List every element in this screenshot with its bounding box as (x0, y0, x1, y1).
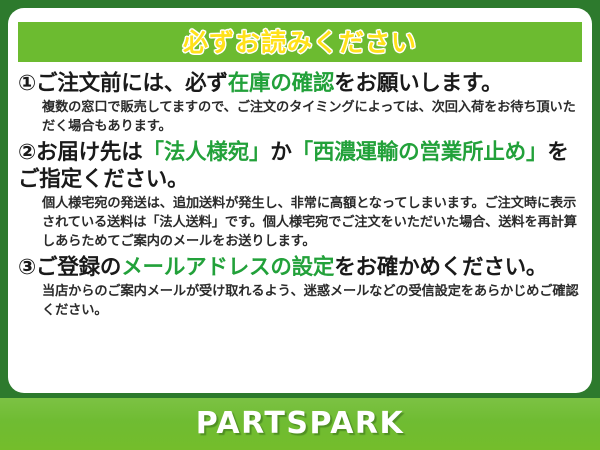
brand-logo: PARTSPARK (196, 409, 405, 439)
notice-item-2: ②お届け先は「法人様宛」か「西濃運輸の営業所止め」をご指定ください。 個人様宅宛… (18, 139, 582, 252)
notice-item-1-description: 複数の窓口で販売してますので、ご注文のタイミングによっては、次回入荷をお待ち頂い… (18, 97, 582, 136)
notice-banner: 必ずお読みください ①ご注文前には、必ず在庫の確認をお願いします。 複数の窓口で… (0, 0, 600, 450)
notice-item-2-head-pre: お届け先は (36, 140, 143, 165)
notice-item-3-highlight: メールアドレスの設定 (121, 255, 334, 280)
header-band: 必ずお読みください (18, 22, 582, 62)
notice-item-1-highlight: 在庫の確認 (228, 71, 335, 96)
notice-item-2-head-mid: か (270, 140, 291, 165)
notice-item-1-marker: ① (18, 71, 36, 96)
notice-item-3-description: 当店からのご案内メールが受け取れるよう、迷惑メールなどの受信設定をあらかじめご確… (18, 281, 582, 320)
notice-item-3-head-post: をお確かめください。 (334, 255, 547, 280)
notice-item-2-description: 個人様宅宛の発送は、追加送料が発生し、非常に高額となってしまいます。ご注文時に表… (18, 193, 582, 251)
notice-item-1-heading: ①ご注文前には、必ず在庫の確認をお願いします。 (18, 70, 582, 97)
notice-list: ①ご注文前には、必ず在庫の確認をお願いします。 複数の窓口で販売してますので、ご… (8, 70, 592, 322)
notice-item-1: ①ご注文前には、必ず在庫の確認をお願いします。 複数の窓口で販売してますので、ご… (18, 70, 582, 137)
notice-item-3: ③ご登録のメールアドレスの設定をお確かめください。 当店からのご案内メールが受け… (18, 254, 582, 321)
notice-panel: 必ずお読みください ①ご注文前には、必ず在庫の確認をお願いします。 複数の窓口で… (8, 8, 592, 393)
notice-item-3-head-pre: ご登録の (36, 255, 121, 280)
notice-item-2-heading: ②お届け先は「法人様宛」か「西濃運輸の営業所止め」をご指定ください。 (18, 139, 582, 194)
notice-item-2-highlight: 「法人様宛」 (143, 140, 271, 165)
notice-item-3-marker: ③ (18, 255, 36, 280)
notice-item-1-head-pre: ご注文前には、必ず (36, 71, 228, 96)
page-title: 必ずお読みください (183, 30, 417, 55)
notice-item-3-heading: ③ご登録のメールアドレスの設定をお確かめください。 (18, 254, 582, 281)
notice-item-2-marker: ② (18, 140, 36, 165)
notice-item-2-highlight-2: 「西濃運輸の営業所止め」 (292, 140, 548, 165)
footer-band: PARTSPARK (0, 398, 600, 450)
notice-item-1-head-post: をお願いします。 (334, 71, 502, 96)
